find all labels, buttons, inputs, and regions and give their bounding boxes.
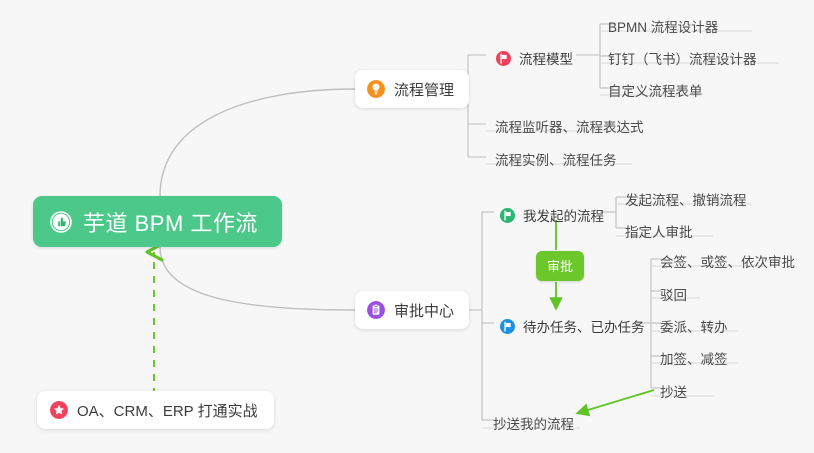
clipboard-icon (367, 301, 385, 319)
leaf-assign-approver[interactable]: 指定人审批 (619, 217, 699, 246)
leaf-custom-form[interactable]: 自定义流程表单 (602, 76, 709, 105)
star-icon (50, 401, 68, 419)
leaf-add-remove-sign[interactable]: 加签、减签 (654, 344, 734, 373)
flag-icon (496, 51, 511, 66)
annotation-approval-tag: 审批 (536, 251, 584, 281)
node-todo-done-tasks[interactable]: 待办任务、已办任务 (494, 312, 651, 341)
leaf-process-instance[interactable]: 流程实例、流程任务 (489, 145, 623, 174)
branch-label-approval-center: 审批中心 (394, 300, 454, 321)
leaf-dingtalk-designer[interactable]: 钉钉（飞书）流程设计器 (602, 44, 763, 73)
root-label: 芋道 BPM 工作流 (83, 206, 258, 238)
leaf-cc-to-me[interactable]: 抄送我的流程 (487, 409, 580, 438)
branch-node-process-management[interactable]: 流程管理 (355, 70, 469, 108)
branch-node-approval-center[interactable]: 审批中心 (355, 291, 469, 329)
floating-node-oa-crm-erp[interactable]: OA、CRM、ERP 打通实战 (37, 391, 274, 429)
leaf-countersign[interactable]: 会签、或签、依次审批 (654, 247, 801, 276)
lightbulb-icon (367, 80, 385, 98)
flag-icon (500, 319, 515, 334)
thumbs-up-icon (50, 211, 72, 233)
leaf-process-listener[interactable]: 流程监听器、流程表达式 (489, 112, 650, 141)
node-process-model[interactable]: 流程模型 (490, 44, 579, 73)
leaf-delegate-transfer[interactable]: 委派、转办 (654, 312, 734, 341)
node-label-my-initiated: 我发起的流程 (523, 205, 604, 225)
flag-icon (500, 208, 515, 223)
leaf-bpmn-designer[interactable]: BPMN 流程设计器 (602, 12, 724, 41)
node-label-process-model: 流程模型 (519, 48, 573, 68)
leaf-reject[interactable]: 驳回 (654, 280, 693, 309)
leaf-cc[interactable]: 抄送 (654, 377, 693, 406)
node-label-todo-done-tasks: 待办任务、已办任务 (523, 316, 645, 336)
leaf-start-cancel-process[interactable]: 发起流程、撤销流程 (619, 185, 753, 214)
root-node[interactable]: 芋道 BPM 工作流 (33, 196, 282, 247)
floating-node-label: OA、CRM、ERP 打通实战 (77, 400, 258, 421)
node-my-initiated[interactable]: 我发起的流程 (494, 201, 610, 230)
branch-label-process-management: 流程管理 (394, 79, 454, 100)
mindmap-canvas: 芋道 BPM 工作流 流程管理 流程模型 BPMN 流程设计器 钉钉（飞书）流程… (0, 0, 814, 453)
